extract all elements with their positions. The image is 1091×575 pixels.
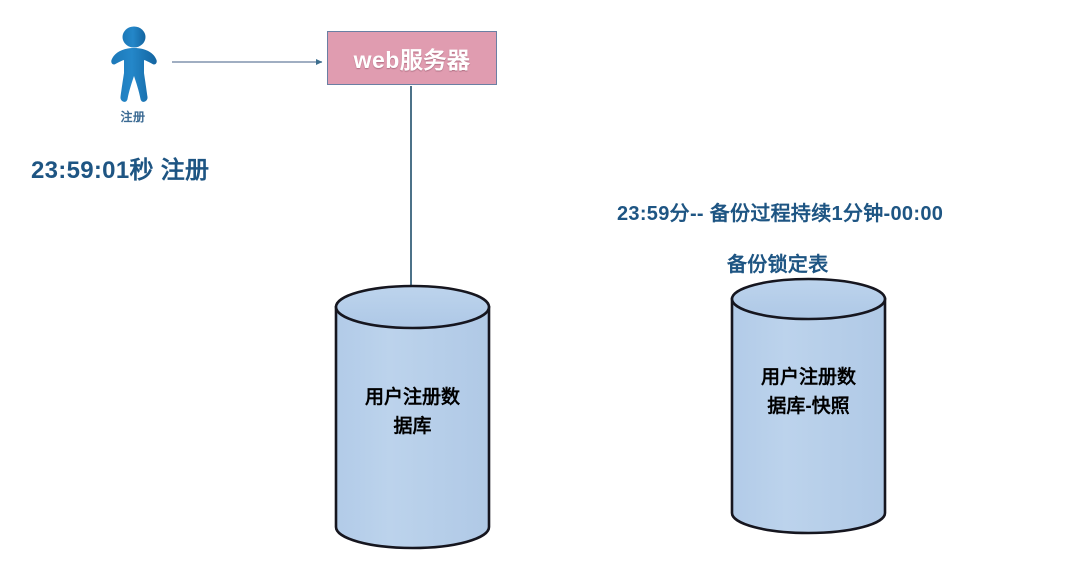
diagram-canvas: 注册 web服务器 23:59:01秒 注册 23:59分-- 备份过程持续1分… [0, 0, 1091, 575]
web-server-node[interactable]: web服务器 [327, 31, 497, 85]
backup-window-caption: 23:59分-- 备份过程持续1分钟-00:00 [617, 197, 943, 226]
db-snapshot-label: 用户注册数 据库-快照 [726, 363, 891, 422]
backup-lock-caption: 备份锁定表 [727, 248, 829, 277]
actor-label: 注册 [83, 108, 183, 125]
web-server-label: web服务器 [354, 41, 471, 75]
register-time-caption: 23:59:01秒 注册 [31, 150, 209, 185]
db-snapshot-label-line2: 据库-快照 [744, 392, 873, 421]
db-primary-label-line1: 用户注册数 [348, 383, 477, 412]
db-snapshot-node[interactable]: 用户注册数 据库-快照 [726, 275, 891, 545]
db-primary-node[interactable]: 用户注册数 据库 [330, 283, 495, 553]
db-snapshot-label-line1: 用户注册数 [744, 363, 873, 392]
db-primary-label-line2: 据库 [348, 412, 477, 441]
person-icon [100, 26, 168, 106]
db-primary-label: 用户注册数 据库 [330, 383, 495, 442]
